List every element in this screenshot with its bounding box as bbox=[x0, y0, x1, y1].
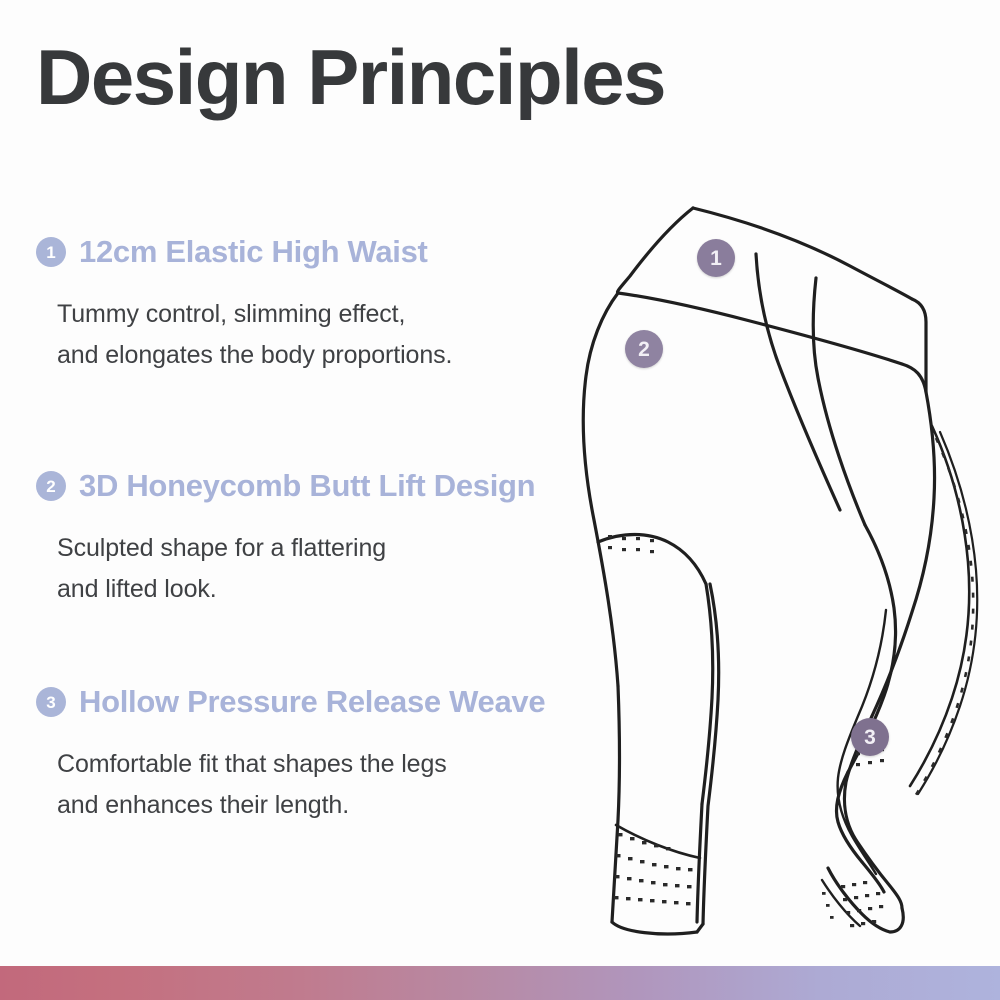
front-leg-inner-lower bbox=[697, 804, 702, 922]
illustration-marker-1[interactable]: 1 bbox=[697, 239, 735, 277]
hip-top-left-curve bbox=[618, 208, 694, 293]
perforation-dots bbox=[608, 535, 884, 927]
waistband-right-edge bbox=[912, 299, 926, 392]
page-title: Design Principles bbox=[36, 38, 665, 118]
waistband-bottom-right bbox=[902, 364, 926, 392]
principle-2-number-badge: 2 bbox=[36, 471, 66, 501]
side-panel-dash-texture bbox=[914, 438, 973, 798]
side-panel-outer-line bbox=[910, 426, 969, 786]
illustration-marker-2[interactable]: 2 bbox=[625, 330, 663, 368]
principle-1-number-badge: 1 bbox=[36, 237, 66, 267]
outer-left-calf bbox=[612, 686, 620, 922]
back-leg-outer-calf bbox=[856, 840, 902, 908]
page-root: Design Principles 1 12cm Elastic High Wa… bbox=[0, 0, 1000, 1000]
principle-1-title: 12cm Elastic High Waist bbox=[79, 234, 428, 270]
front-leg-cuff-corner bbox=[697, 924, 703, 932]
principle-3-number-badge: 3 bbox=[36, 687, 66, 717]
front-leg-cuff-bottom bbox=[612, 922, 697, 934]
leggings-illustration bbox=[560, 180, 1000, 940]
back-leg-knee-inner bbox=[836, 772, 862, 862]
front-leg-cuff-diagonal-seam bbox=[616, 825, 700, 858]
waistband-seam-line-1 bbox=[756, 254, 840, 510]
waistband-seam-line-2 bbox=[813, 278, 865, 525]
principle-2-title: 3D Honeycomb Butt Lift Design bbox=[79, 468, 535, 504]
back-leg-outer-thigh bbox=[872, 392, 935, 716]
back-leg-cuff-right bbox=[890, 908, 903, 932]
principle-3-title: Hollow Pressure Release Weave bbox=[79, 684, 545, 720]
leggings-technical-sketch-svg bbox=[560, 180, 1000, 940]
outer-left-thigh bbox=[583, 293, 618, 686]
bottom-gradient-bar bbox=[0, 966, 1000, 1000]
illustration-marker-3[interactable]: 3 bbox=[851, 718, 889, 756]
